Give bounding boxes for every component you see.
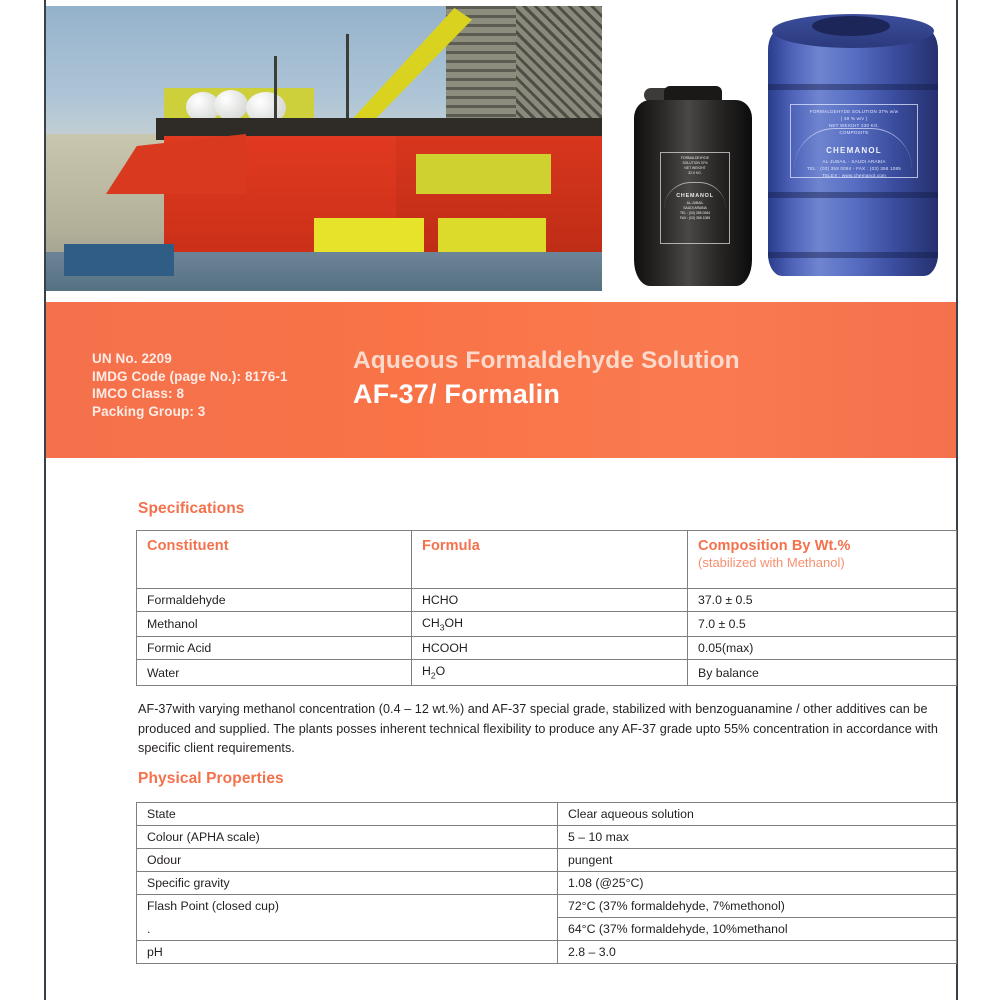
cell-constituent: Formaldehyde — [137, 589, 412, 612]
table-row: Odour pungent — [137, 849, 957, 872]
black-jerrycan: FORMALDEHYDE SOLUTION 37% NET WEIGHT 32.… — [634, 86, 752, 286]
cell-property: State — [137, 803, 558, 826]
specifications-heading: Specifications — [138, 500, 245, 518]
drum-label-line7: TELEX : www.chemanol.com — [791, 172, 917, 178]
cell-value: 2.8 – 3.0 — [558, 941, 957, 964]
header-formula-label: Formula — [422, 538, 687, 555]
cell-formula: CH3OH — [412, 612, 688, 637]
cell-composition: By balance — [688, 660, 957, 685]
cell-constituent: Water — [137, 660, 412, 685]
yellow-panel-c — [438, 218, 546, 252]
cell-value: 72°C (37% formaldehyde, 7%methonol) — [558, 895, 957, 918]
drum-lid — [812, 16, 890, 36]
cell-property: Specific gravity — [137, 872, 558, 895]
product-banner: UN No. 2209 IMDG Code (page No.): 8176-1… — [46, 302, 956, 458]
transport-classification-block: UN No. 2209 IMDG Code (page No.): 8176-1… — [92, 350, 288, 420]
cell-value: 64°C (37% formaldehyde, 10%methanol — [558, 918, 957, 941]
cell-property: pH — [137, 941, 558, 964]
table-row: Flash Point (closed cup) 72°C (37% forma… — [137, 895, 957, 918]
mast-2 — [346, 34, 349, 120]
header-cell-formula: Formula — [412, 531, 688, 589]
table-row: Water H2O By balance — [137, 660, 957, 685]
table-row: Colour (APHA scale) 5 – 10 max — [137, 826, 957, 849]
grades-note-paragraph: AF-37with varying methanol concentration… — [138, 700, 960, 759]
drum-label-line1: FORMALDEHYDE SOLUTION 37% w/w — [791, 108, 917, 115]
table-row: Specific gravity 1.08 (@25°C) — [137, 872, 957, 895]
offshore-oil-rig-photo — [46, 6, 602, 291]
imco-class: IMCO Class: 8 — [92, 385, 288, 403]
cell-composition: 7.0 ± 0.5 — [688, 612, 957, 637]
datasheet-page: FORMALDEHYDE SOLUTION 37% NET WEIGHT 32.… — [44, 0, 958, 1000]
table-row: . 64°C (37% formaldehyde, 10%methanol — [137, 918, 957, 941]
cell-value: 5 – 10 max — [558, 826, 957, 849]
drum-label-line2: ( 48 % w/v ) — [791, 115, 917, 122]
sphere-tank-2 — [214, 90, 248, 120]
packaging-containers-photo: FORMALDEHYDE SOLUTION 37% NET WEIGHT 32.… — [622, 10, 956, 294]
cell-property: . — [137, 918, 558, 941]
cell-formula: H2O — [412, 660, 688, 685]
cell-property: Colour (APHA scale) — [137, 826, 558, 849]
header-cell-constituent: Constituent — [137, 531, 412, 589]
cell-formula: HCHO — [412, 589, 688, 612]
table-row: Formic Acid HCOOH 0.05(max) — [137, 637, 957, 660]
imdg-code: IMDG Code (page No.): 8176-1 — [92, 368, 288, 386]
yellow-panel-a — [416, 154, 551, 194]
cell-constituent: Formic Acid — [137, 637, 412, 660]
cell-value: 1.08 (@25°C) — [558, 872, 957, 895]
cell-constituent: Methanol — [137, 612, 412, 637]
table-row: pH 2.8 – 3.0 — [137, 941, 957, 964]
specifications-table: Constituent Formula Composition By Wt.% … — [136, 530, 957, 686]
packing-group: Packing Group: 3 — [92, 403, 288, 421]
header-constituent-label: Constituent — [147, 538, 411, 555]
un-number: UN No. 2209 — [92, 350, 288, 368]
cell-value: Clear aqueous solution — [558, 803, 957, 826]
header-composition-label: Composition By Wt.% — [698, 538, 956, 555]
physical-properties-heading: Physical Properties — [138, 770, 284, 788]
jerrycan-label-line8: FAX : (03) 358 1085 — [661, 216, 729, 221]
table-row: Methanol CH3OH 7.0 ± 0.5 — [137, 612, 957, 637]
cell-formula: HCOOH — [412, 637, 688, 660]
table-header-row: Constituent Formula Composition By Wt.% … — [137, 531, 957, 589]
drum-rib-2 — [768, 192, 938, 198]
support-vessel — [64, 244, 174, 276]
cell-value: pungent — [558, 849, 957, 872]
mast-1 — [274, 56, 277, 118]
cell-property: Flash Point (closed cup) — [137, 895, 558, 918]
header-composition-sublabel: (stabilized with Methanol) — [698, 555, 956, 571]
header-cell-composition: Composition By Wt.% (stabilized with Met… — [688, 531, 957, 589]
physical-properties-table: State Clear aqueous solution Colour (APH… — [136, 802, 957, 964]
yellow-panel-b — [314, 218, 424, 252]
cell-composition: 0.05(max) — [688, 637, 957, 660]
product-subtitle: Aqueous Formaldehyde Solution — [353, 346, 740, 376]
blue-drum: FORMALDEHYDE SOLUTION 37% w/w ( 48 % w/v… — [768, 12, 938, 288]
drum-rib-3 — [768, 252, 938, 258]
table-row: Formaldehyde HCHO 37.0 ± 0.5 — [137, 589, 957, 612]
cell-property: Odour — [137, 849, 558, 872]
photo-band: FORMALDEHYDE SOLUTION 37% NET WEIGHT 32.… — [46, 6, 956, 294]
page-title: AF-37/ Formalin — [353, 378, 740, 411]
product-title-block: Aqueous Formaldehyde Solution AF-37/ For… — [353, 346, 740, 411]
cell-composition: 37.0 ± 0.5 — [688, 589, 957, 612]
table-row: State Clear aqueous solution — [137, 803, 957, 826]
derrick-tower-2 — [516, 6, 602, 136]
drum-rib-1 — [768, 84, 938, 90]
